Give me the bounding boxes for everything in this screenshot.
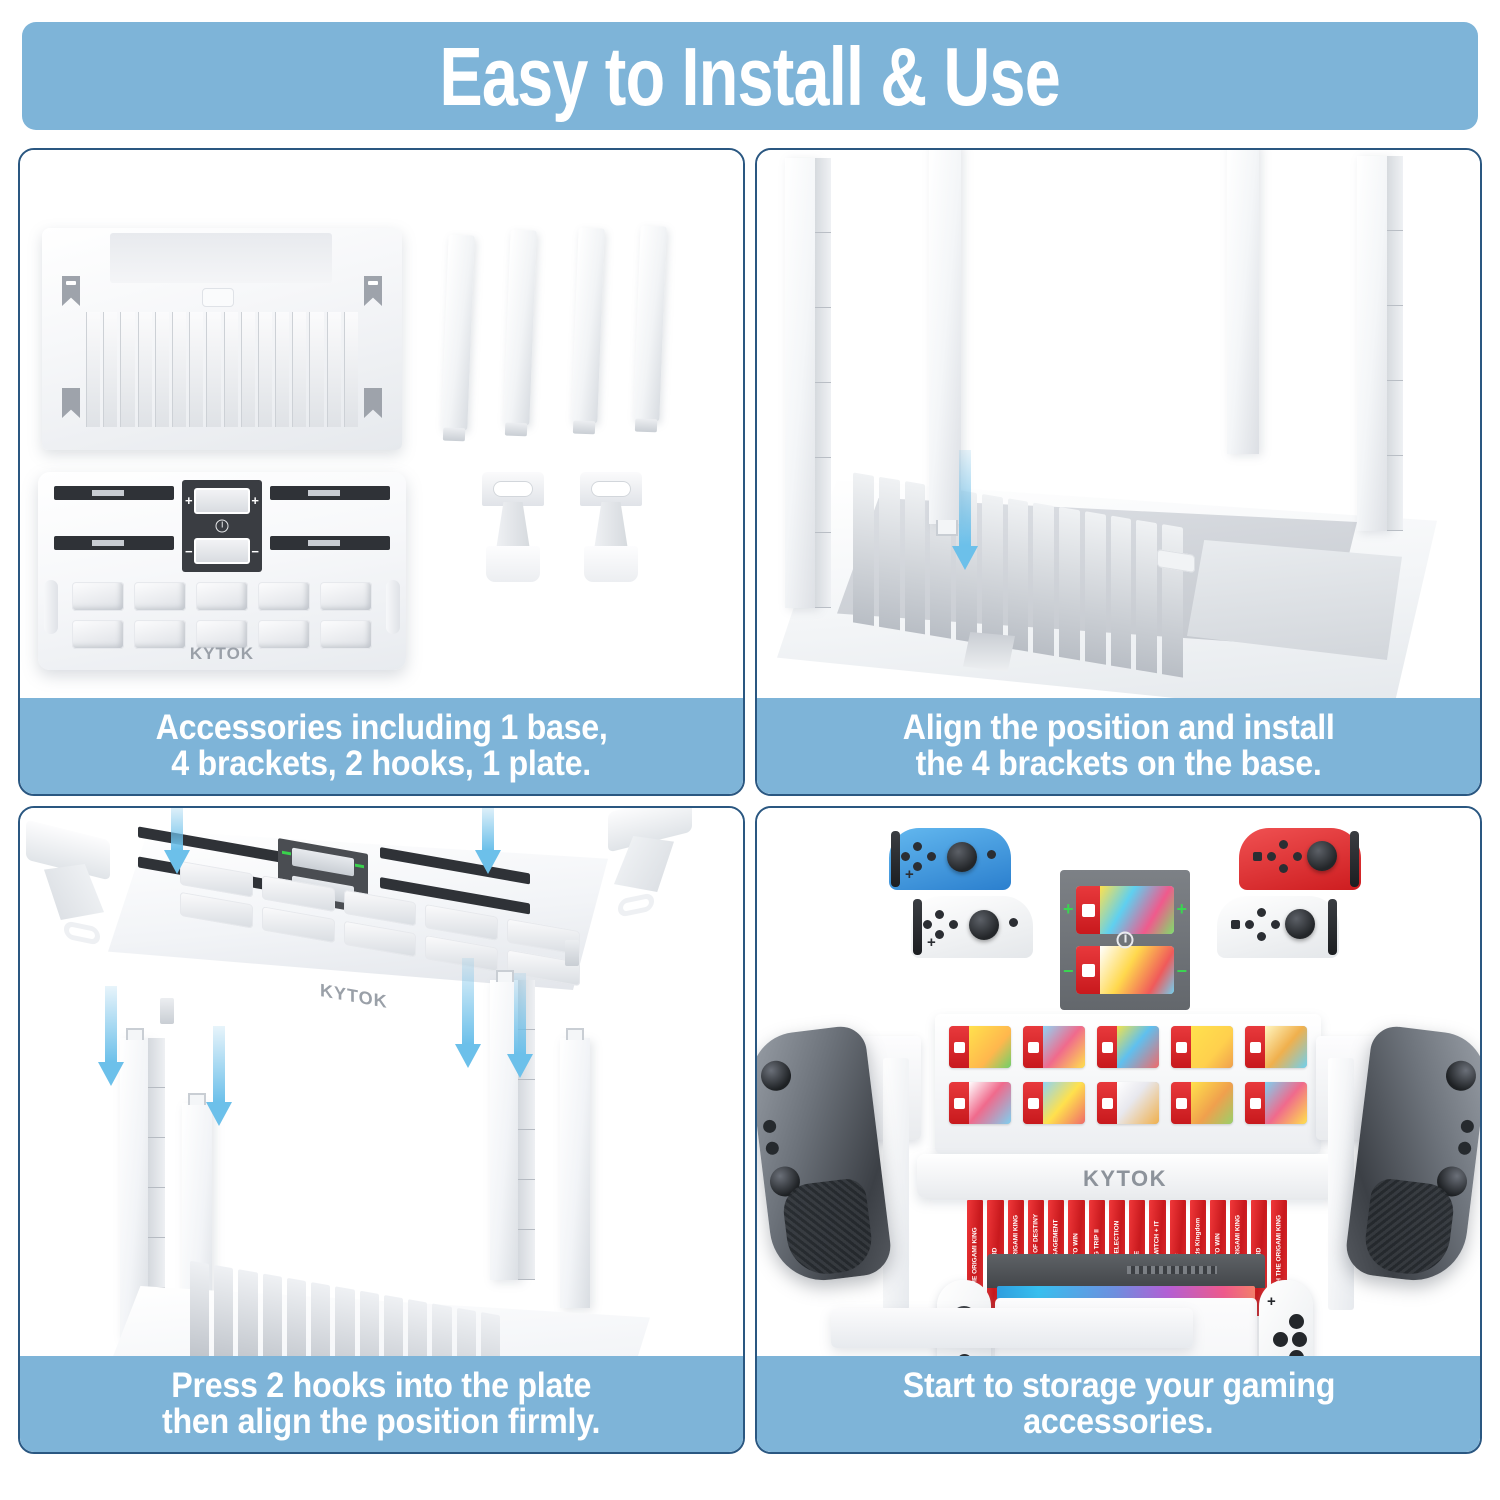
panel-accessories-illustration: + + − − KYTOK <box>20 150 743 698</box>
install-arrow-icon <box>455 958 481 1068</box>
bracket-part <box>560 1038 590 1308</box>
caption-press-hooks: Press 2 hooks into the plate then align … <box>20 1356 743 1452</box>
game-card <box>1097 1082 1159 1124</box>
caption-line-1: Start to storage your gaming <box>902 1368 1334 1404</box>
base-slot-fins <box>190 1261 500 1356</box>
bracket-socket <box>963 632 1015 672</box>
minus-marker: − <box>251 545 259 558</box>
brand-logo: KYTOK <box>38 644 406 664</box>
bracket-part <box>633 226 666 422</box>
plate-leg <box>160 998 174 1024</box>
joycon-rail <box>270 536 390 550</box>
install-arrow-icon <box>952 450 978 570</box>
assembled-stand: + + <box>875 818 1375 1356</box>
joycon-blue: + <box>889 828 1011 890</box>
base-nub <box>202 288 234 307</box>
hook-mount <box>386 580 400 634</box>
joycon-rail <box>270 486 390 500</box>
game-card <box>1171 1082 1233 1124</box>
page-title: Easy to Install & Use <box>440 35 1060 118</box>
joycon-white-docked-right: + <box>1259 1280 1313 1356</box>
charging-panel: + + − − <box>1060 870 1190 1010</box>
bracket-part <box>1357 156 1389 531</box>
charge-slot <box>194 488 250 514</box>
bracket-part <box>503 230 536 426</box>
base-part <box>42 228 402 450</box>
install-arrow-icon <box>507 973 533 1078</box>
caption-install-brackets: Align the position and install the 4 bra… <box>757 698 1480 794</box>
joycon-rail <box>138 826 288 863</box>
caption-line-1: Accessories including 1 base, <box>156 710 608 746</box>
charge-slot <box>194 538 250 564</box>
panel-install-illustration <box>757 150 1480 698</box>
plus-marker: + <box>1063 900 1074 918</box>
header-banner: Easy to Install & Use <box>22 22 1478 130</box>
bracket-socket <box>364 388 382 418</box>
bracket-socket <box>364 276 382 306</box>
caption-line-2: the 4 brackets on the base. <box>916 746 1322 782</box>
hook-part <box>482 472 544 582</box>
base-foot <box>831 1308 1193 1348</box>
hook-part <box>608 808 692 922</box>
plus-marker: + <box>1176 900 1187 918</box>
caption-accessories: Accessories including 1 base, 4 brackets… <box>20 698 743 794</box>
game-card <box>949 1082 1011 1124</box>
caption-line-2: accessories. <box>1023 1404 1213 1440</box>
base-slot-fins <box>86 312 358 427</box>
install-arrow-icon <box>164 808 190 874</box>
install-arrow-icon <box>206 1026 232 1126</box>
indicator-marker <box>282 851 291 856</box>
install-arrow-icon <box>98 986 124 1086</box>
caption-line-1: Press 2 hooks into the plate <box>172 1368 592 1404</box>
bracket-socket <box>62 388 80 418</box>
charging-game-card <box>1076 886 1174 934</box>
panel-hooks-illustration: KYTOK <box>20 808 743 1356</box>
power-icon <box>1117 932 1134 949</box>
plus-marker: + <box>251 494 259 507</box>
charging-game-card <box>1076 946 1174 994</box>
plus-marker: + <box>185 494 193 507</box>
joycon-white-left: + <box>911 896 1033 958</box>
brand-logo: KYTOK <box>320 980 388 1013</box>
caption-line-2: then align the position firmly. <box>162 1404 600 1440</box>
game-card <box>1245 1026 1307 1068</box>
minus-marker: − <box>1063 962 1074 980</box>
panel-install-brackets: Align the position and install the 4 bra… <box>755 148 1482 796</box>
panel-grid: + + − − KYTOK <box>18 148 1482 1484</box>
base-trough <box>110 233 332 283</box>
install-arrow-icon <box>475 808 501 874</box>
bracket-part <box>571 228 604 424</box>
hook-mount <box>44 580 58 634</box>
joycon-rail <box>54 486 174 500</box>
joycon-rail <box>54 536 174 550</box>
caption-storage-result: Start to storage your gaming accessories… <box>757 1356 1480 1452</box>
game-card-slot-grid <box>72 582 372 649</box>
panel-storage-result: + + <box>755 806 1482 1454</box>
caption-line-1: Align the position and install <box>903 710 1335 746</box>
game-card <box>1023 1026 1085 1068</box>
bracket-socket <box>62 276 80 306</box>
power-icon <box>216 520 229 533</box>
minus-marker: − <box>1176 962 1187 980</box>
minus-marker: − <box>185 545 193 558</box>
infographic-page: Easy to Install & Use <box>0 0 1500 1500</box>
panel-accessories: + + − − KYTOK <box>18 148 745 796</box>
indicator-marker <box>355 864 364 869</box>
plate-leg <box>565 940 579 966</box>
brand-logo: KYTOK <box>875 1166 1375 1192</box>
hook-part <box>580 472 642 582</box>
panel-result-illustration: + + <box>757 808 1480 1356</box>
caption-line-2: 4 brackets, 2 hooks, 1 plate. <box>172 746 592 782</box>
game-card <box>949 1026 1011 1068</box>
joycon-white-right <box>1217 896 1339 958</box>
bracket-part <box>785 158 817 608</box>
charging-panel: + + − − <box>182 480 262 572</box>
bracket-part <box>441 235 474 431</box>
game-card-grid <box>949 1026 1307 1124</box>
game-card <box>1023 1082 1085 1124</box>
bracket-part <box>1227 150 1259 454</box>
plate-part: + + − − KYTOK <box>38 472 406 670</box>
game-card <box>1097 1026 1159 1068</box>
console-top-edge <box>987 1254 1265 1288</box>
panel-press-hooks: KYTOK <box>18 806 745 1454</box>
game-card <box>1171 1026 1233 1068</box>
hook-part <box>26 830 110 950</box>
game-card <box>1245 1082 1307 1124</box>
charge-slot <box>292 848 354 877</box>
joycon-red <box>1239 828 1361 890</box>
card-shelf <box>935 1014 1321 1154</box>
